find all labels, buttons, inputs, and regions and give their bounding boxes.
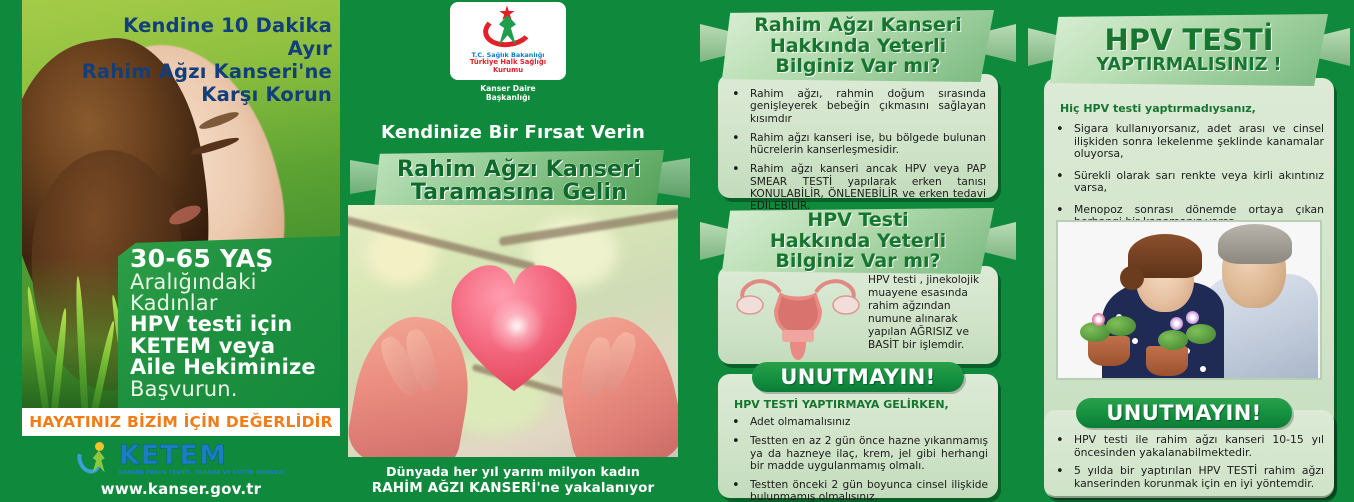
dress-polka-dot (1132, 338, 1138, 344)
caption-line-2: RAHİM AĞZI KANSERİ'ne yakalanıyor (372, 480, 655, 496)
panel-awareness: Kendine 10 Dakika Ayır Rahim Ağzı Kanser… (22, 0, 340, 502)
elderly-couple-photo (1056, 220, 1322, 380)
hpv-test-info-banner: HPV Testi Hakkında Yeterli Bilginiz Var … (722, 208, 994, 274)
list-item: Rahim ağzı kanseri ise, bu bölgede bulun… (724, 132, 986, 157)
list-item: Adet olmamalısınız (724, 416, 988, 428)
remember-banner-panel4: UNUTMAYIN! (1076, 398, 1292, 428)
ribbon-face: Rahim Ağzı Kanseri Taramasına Gelin (374, 150, 664, 212)
ketem-head-dot (95, 442, 104, 451)
remember-bullet-list: Adet olmamalısınız Testten en az 2 gün ö… (724, 416, 988, 502)
list-item: Sürekli olarak sarı renkte veya kirli ak… (1048, 170, 1324, 195)
remember-title: UNUTMAYIN! (780, 365, 935, 389)
panel-screening-invite: T.C. Sağlık Bakanlığı Türkiye Halk Sağlı… (348, 0, 678, 502)
banner-line-1: Rahim Ağzı Kanseri (754, 15, 962, 36)
heart-shine-highlight (486, 295, 548, 357)
callout-line-5: KETEM veya (130, 336, 332, 357)
department-line-1: Kanser Daire (450, 84, 566, 93)
hpv-test-info-card: HPV testi , jinekolojik muayene esasında… (718, 266, 998, 364)
headline-line-2: Rahim Ağzı Kanseri'ne (76, 60, 332, 83)
symptoms-lead-text: Hiç HPV testi yaptırmadıysanız, (1060, 102, 1324, 115)
panel-call-to-action: HPV TESTİ YAPTIRMALISINIZ ! Hiç HPV test… (1036, 0, 1342, 502)
ketem-subtitle: KANSER ERKEN TEŞHİS, TARAMA VE EĞİTİM ME… (119, 470, 285, 476)
woman-hair-bun (1120, 266, 1144, 290)
flower-pot (1146, 346, 1188, 376)
cervical-cancer-info-card: Rahim ağzı, rahmin doğum sırasında geniş… (718, 74, 998, 198)
uterus-anatomy-icon (730, 272, 866, 362)
list-item: Rahim ağzı kanseri ancak HPV veya PAP SM… (724, 163, 986, 212)
info-bullet-list: Rahim ağzı, rahmin doğum sırasında geniş… (724, 88, 986, 213)
list-item: HPV testi ile rahim ağzı kanseri 10-15 y… (1048, 434, 1324, 459)
caption-line-1: Dünyada her yıl yarım milyon kadın (386, 464, 640, 479)
ketem-wordmark: KETEM KANSER ERKEN TEŞHİS, TARAMA VE EĞİ… (119, 442, 285, 476)
ketem-logo: KETEM KANSER ERKEN TEŞHİS, TARAMA VE EĞİ… (78, 441, 285, 477)
ribbon-face: HPV Testi Hakkında Yeterli Bilginiz Var … (722, 208, 994, 274)
panel1-footer: KETEM KANSER ERKEN TEŞHİS, TARAMA VE EĞİ… (22, 436, 340, 502)
plant-leaf (1106, 316, 1136, 336)
list-item: 5 yılda bir yaptırılan HPV TESTİ rahim a… (1048, 465, 1324, 490)
ketem-name: KETEM (119, 442, 227, 469)
man-hair (1218, 224, 1292, 264)
remember-title: UNUTMAYIN! (1106, 401, 1261, 425)
age-callout-box: 30-65 YAŞ Aralığındaki Kadınlar HPV test… (118, 236, 340, 408)
remember-bullet-list: HPV testi ile rahim ağzı kanseri 10-15 y… (1048, 434, 1324, 490)
plant-leaf (1158, 330, 1188, 350)
banner-line-3: Bilginiz Var mı? (775, 251, 940, 272)
hpv-test-cta-banner: HPV TESTİ YAPTIRMALISINIZ ! (1050, 14, 1328, 86)
remember-lead-text: HPV TESTİ YAPTIRMAYA GELİRKEN, (734, 398, 988, 411)
ketem-figure-icon (78, 442, 114, 476)
list-item: Testten en az 2 gün önce hazne yıkanmamı… (724, 435, 988, 472)
slogan-text: HAYATINIZ BİZİM İÇİN DEĞERLİDİR (29, 413, 333, 431)
list-item: Testten önceki 2 gün boyunca cinsel iliş… (724, 479, 988, 502)
banner-line-2: Hakkında Yeterli (770, 231, 946, 252)
cta-line-1: HPV TESTİ (1104, 26, 1273, 55)
ministry-department: Kanser Daire Başkanlığı (450, 84, 566, 102)
ministry-line-3: Kurumu (493, 67, 523, 75)
cta-line-2: YAPTIRMALISINIZ ! (1097, 57, 1282, 75)
slogan-strip: HAYATINIZ BİZİM İÇİN DEĞERLİDİR (22, 408, 340, 436)
ribbon-line-2: Taramasına Gelin (411, 181, 627, 204)
callout-line-4: HPV testi için (130, 314, 332, 335)
department-line-2: Başkanlığı (450, 93, 566, 102)
headline-line-1: Kendine 10 Dakika Ayır (76, 14, 332, 60)
ribbon-face: Rahim Ağzı Kanseri Hakkında Yeterli Bilg… (722, 10, 994, 82)
panel2-caption: Dünyada her yıl yarım milyon kadın RAHİM… (348, 457, 678, 502)
plant-leaf (1186, 324, 1216, 344)
callout-line-6: Aile Hekiminize (130, 357, 332, 378)
ministry-logo: T.C. Sağlık Bakanlığı Türkiye Halk Sağlı… (450, 2, 566, 80)
panel2-ribbon-banner: Rahim Ağzı Kanseri Taramasına Gelin (374, 150, 664, 212)
hpv-test-description: HPV testi , jinekolojik muayene esasında… (868, 274, 992, 352)
callout-line-3: Kadınlar (130, 293, 332, 314)
flower-bloom (1186, 311, 1199, 324)
flower-bloom (1092, 313, 1105, 326)
headline-line-3: Karşı Korun (76, 83, 332, 106)
banner-line-2: Hakkında Yeterli (770, 36, 946, 57)
list-item: Sigara kullanıyorsanız, adet arası ve ci… (1048, 123, 1324, 161)
callout-line-1: 30-65 YAŞ (130, 246, 332, 272)
remember-card-panel3: HPV TESTİ YAPTIRMAYA GELİRKEN, Adet olma… (718, 374, 998, 498)
ribbon-line-1: Rahim Ağzı Kanseri (397, 158, 641, 181)
remember-banner-panel3: UNUTMAYIN! (752, 362, 964, 392)
callout-line-2: Aralığındaki (130, 272, 332, 293)
panel1-headline: Kendine 10 Dakika Ayır Rahim Ağzı Kanser… (76, 14, 332, 106)
callout-line-7: Başvurun. (130, 379, 332, 400)
panel-information: Rahim Ağzı Kanseri Hakkında Yeterli Bilg… (706, 0, 1006, 502)
ribbon-face: HPV TESTİ YAPTIRMALISINIZ ! (1050, 14, 1328, 86)
cervical-cancer-info-banner: Rahim Ağzı Kanseri Hakkında Yeterli Bilg… (722, 10, 994, 82)
banner-line-3: Bilginiz Var mı? (775, 56, 940, 77)
banner-line-1: HPV Testi (807, 210, 908, 231)
website-url[interactable]: www.kanser.gov.tr (101, 480, 261, 498)
heart-hands-photo (348, 205, 678, 457)
panel2-kicker: Kendinize Bir Fırsat Verin (348, 122, 678, 143)
dress-polka-dot (1200, 366, 1206, 372)
ministry-emblem-icon (477, 7, 539, 49)
poster-root: Kendine 10 Dakika Ayır Rahim Ağzı Kanser… (0, 0, 1354, 502)
list-item: Rahim ağzı, rahmin doğum sırasında geniş… (724, 88, 986, 125)
flower-bloom (1170, 317, 1183, 330)
